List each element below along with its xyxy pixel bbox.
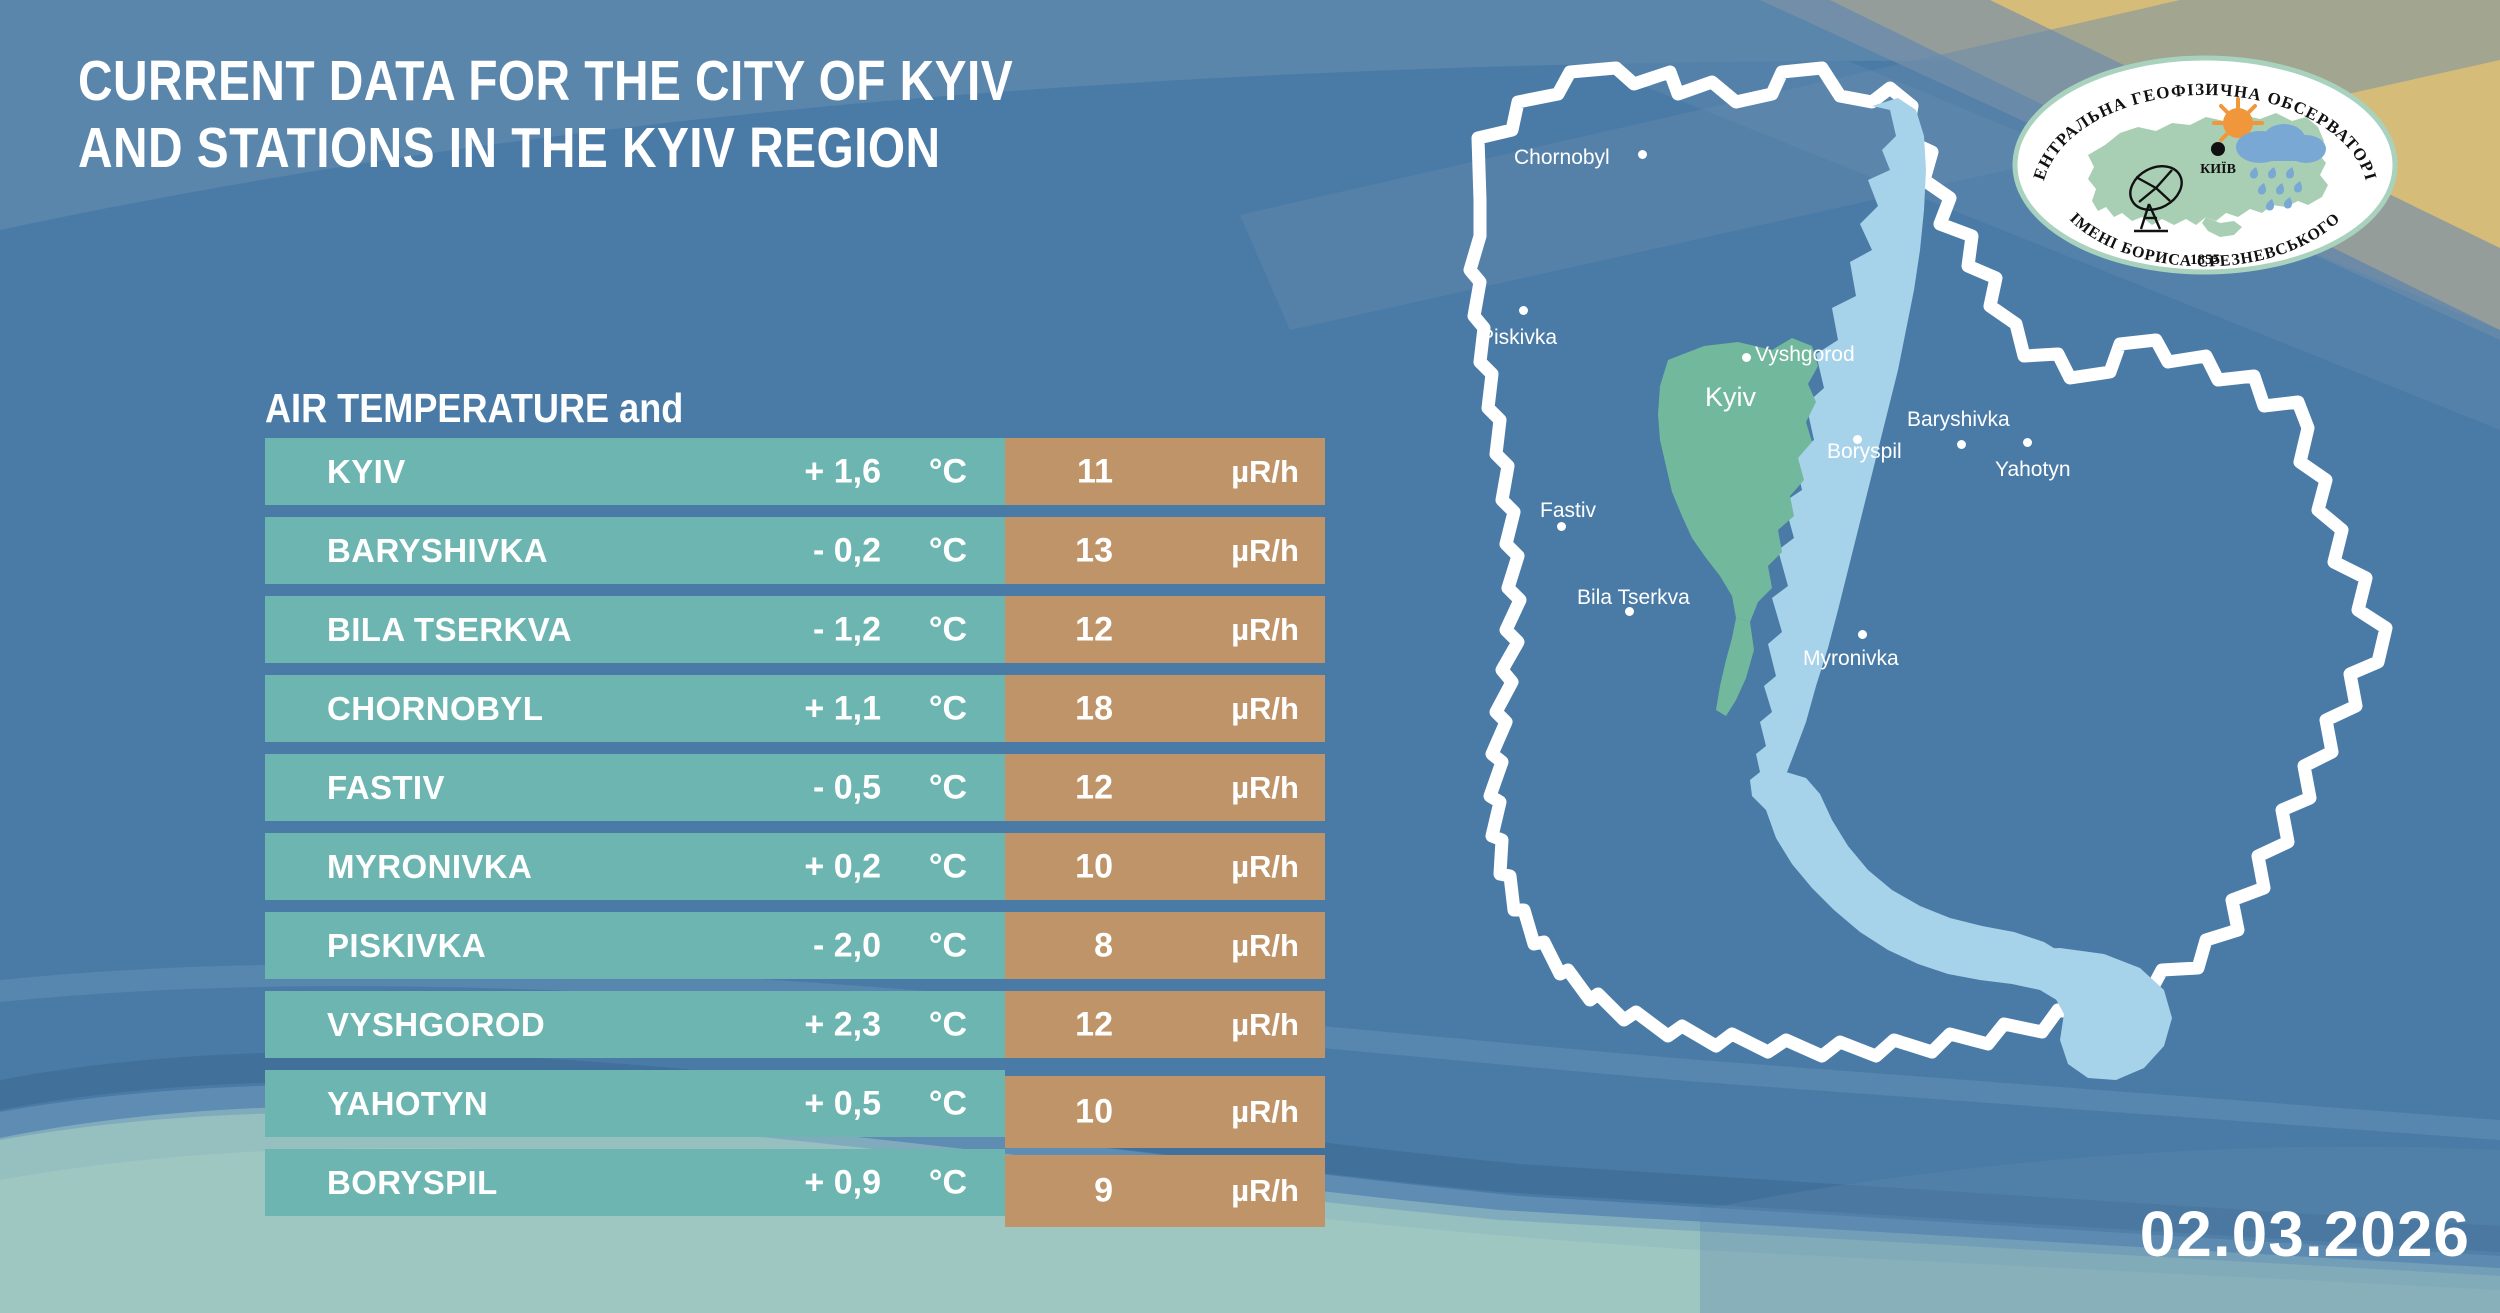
report-date: 02.03.2026 [2140,1197,2470,1271]
row-radiation-cell: 12µR/h [1005,754,1325,821]
row-radiation-cell: 9µR/h [1005,1155,1325,1227]
radiation-unit: µR/h [1231,770,1299,806]
map-station-label: Piskivka [1480,326,1557,350]
table-row: BILA TSERKVA- 1,2°C12µR/h [265,590,1325,669]
observatory-logo: КИЇВ ЦЕНТРАЛЬНА ГЕОФІЗИЧНА ОБСЕРВАТОРІЯ … [2010,55,2400,275]
radiation-value: 11 [1005,452,1113,491]
row-radiation-cell: 12µR/h [1005,596,1325,663]
map-station-dot [2023,438,2032,447]
table-row: CHORNOBYL+ 1,1°C18µR/h [265,669,1325,748]
row-temperature-cell: KYIV+ 1,6°C [265,438,1005,505]
temperature-value: + 0,9 [804,1163,881,1202]
radiation-value: 12 [1005,1005,1113,1044]
temperature-unit: °C [929,1163,967,1202]
temperature-unit: °C [929,610,967,649]
row-temperature-cell: VYSHGOROD+ 2,3°C [265,991,1005,1058]
station-name: BARYSHIVKA [327,532,548,570]
infographic-canvas: CURRENT DATA FOR THE CITY OF KYIV AND ST… [0,0,2500,1313]
temperature-value: - 0,5 [813,768,881,807]
station-name: PISKIVKA [327,927,486,965]
page-title-line-1: CURRENT DATA FOR THE CITY OF KYIV [78,49,1013,113]
temperature-value: - 2,0 [813,926,881,965]
temperature-unit: °C [929,1084,967,1123]
radiation-value: 13 [1005,531,1113,570]
row-temperature-cell: PISKIVKA- 2,0°C [265,912,1005,979]
radiation-unit: µR/h [1231,454,1299,490]
table-row: VYSHGOROD+ 2,3°C12µR/h [265,985,1325,1064]
station-name: KYIV [327,453,406,491]
row-temperature-cell: CHORNOBYL+ 1,1°C [265,675,1005,742]
table-row: FASTIV- 0,5°C12µR/h [265,748,1325,827]
subtitle-line-1: AIR TEMPERATURE and [265,382,915,435]
radiation-unit: µR/h [1231,1173,1299,1209]
radiation-unit: µR/h [1231,928,1299,964]
temperature-unit: °C [929,768,967,807]
row-radiation-cell: 8µR/h [1005,912,1325,979]
map-station-label: Chornobyl [1514,146,1610,170]
station-name: YAHOTYN [327,1085,488,1123]
temperature-value: + 1,6 [804,452,881,491]
table-row: BORYSPIL+ 0,9°C9µR/h [265,1143,1325,1222]
temperature-unit: °C [929,847,967,886]
page-title: CURRENT DATA FOR THE CITY OF KYIV AND ST… [78,48,1013,183]
map-station-dot [1742,353,1751,362]
temperature-value: + 0,5 [804,1084,881,1123]
radiation-value: 9 [1005,1172,1113,1211]
radiation-value: 12 [1005,610,1113,649]
temperature-unit: °C [929,1005,967,1044]
radiation-value: 10 [1005,1093,1113,1132]
logo-year: 1855 [2190,252,2220,268]
station-name: BILA TSERKVA [327,611,572,649]
temperature-unit: °C [929,689,967,728]
row-radiation-cell: 18µR/h [1005,675,1325,742]
row-radiation-cell: 10µR/h [1005,1076,1325,1148]
map-station-label: Bila Tserkva [1577,586,1690,610]
map-station-label: Boryspil [1827,440,1902,464]
map-station-dot [1638,150,1647,159]
radiation-unit: µR/h [1231,612,1299,648]
row-temperature-cell: MYRONIVKA+ 0,2°C [265,833,1005,900]
row-temperature-cell: BILA TSERKVA- 1,2°C [265,596,1005,663]
radiation-unit: µR/h [1231,691,1299,727]
station-name: CHORNOBYL [327,690,543,728]
table-row: PISKIVKA- 2,0°C8µR/h [265,906,1325,985]
map-station-dot [1957,440,1966,449]
row-radiation-cell: 12µR/h [1005,991,1325,1058]
station-name: MYRONIVKA [327,848,532,886]
table-row: BARYSHIVKA- 0,2°C13µR/h [265,511,1325,590]
row-temperature-cell: BORYSPIL+ 0,9°C [265,1149,1005,1216]
row-temperature-cell: FASTIV- 0,5°C [265,754,1005,821]
row-temperature-cell: BARYSHIVKA- 0,2°C [265,517,1005,584]
table-row: MYRONIVKA+ 0,2°C10µR/h [265,827,1325,906]
radiation-value: 12 [1005,768,1113,807]
kyiv-marker-dot [2211,142,2225,156]
temperature-value: + 2,3 [804,1005,881,1044]
row-radiation-cell: 10µR/h [1005,833,1325,900]
logo-capital-label: КИЇВ [2200,161,2236,177]
station-name: FASTIV [327,769,445,807]
temperature-unit: °C [929,452,967,491]
temperature-value: + 1,1 [804,689,881,728]
page-title-line-2: AND STATIONS IN THE KYIV REGION [78,116,940,180]
temperature-unit: °C [929,926,967,965]
map-station-label: Kyiv [1705,382,1756,413]
table-row: KYIV+ 1,6°C11µR/h [265,432,1325,511]
temperature-value: + 0,2 [804,847,881,886]
row-temperature-cell: YAHOTYN+ 0,5°C [265,1070,1005,1137]
table-row: YAHOTYN+ 0,5°C10µR/h [265,1064,1325,1143]
map-station-label: Fastiv [1540,499,1596,523]
row-radiation-cell: 13µR/h [1005,517,1325,584]
measurements-table: KYIV+ 1,6°C11µR/hBARYSHIVKA- 0,2°C13µR/h… [265,432,1325,1222]
kyiv-city-spur [1716,618,1754,716]
station-name: VYSHGOROD [327,1006,545,1044]
map-station-label: Baryshivka [1907,408,2010,432]
map-station-dot [1557,522,1566,531]
radiation-unit: µR/h [1231,1007,1299,1043]
temperature-unit: °C [929,531,967,570]
map-station-label: Myronivka [1803,647,1899,671]
row-radiation-cell: 11µR/h [1005,438,1325,505]
radiation-unit: µR/h [1231,533,1299,569]
station-name: BORYSPIL [327,1164,498,1202]
radiation-value: 10 [1005,847,1113,886]
river-widening [2008,948,2172,1080]
map-station-dot [1858,630,1867,639]
map-station-label: Yahotyn [1995,458,2071,482]
radiation-unit: µR/h [1231,849,1299,885]
map-station-dot [1519,306,1528,315]
temperature-value: - 0,2 [813,531,881,570]
map-station-label: Vyshgorod [1755,343,1855,367]
temperature-value: - 1,2 [813,610,881,649]
radiation-value: 8 [1005,926,1113,965]
radiation-value: 18 [1005,689,1113,728]
radiation-unit: µR/h [1231,1094,1299,1130]
logo-graphic: КИЇВ ЦЕНТРАЛЬНА ГЕОФІЗИЧНА ОБСЕРВАТОРІЯ … [2010,55,2400,275]
